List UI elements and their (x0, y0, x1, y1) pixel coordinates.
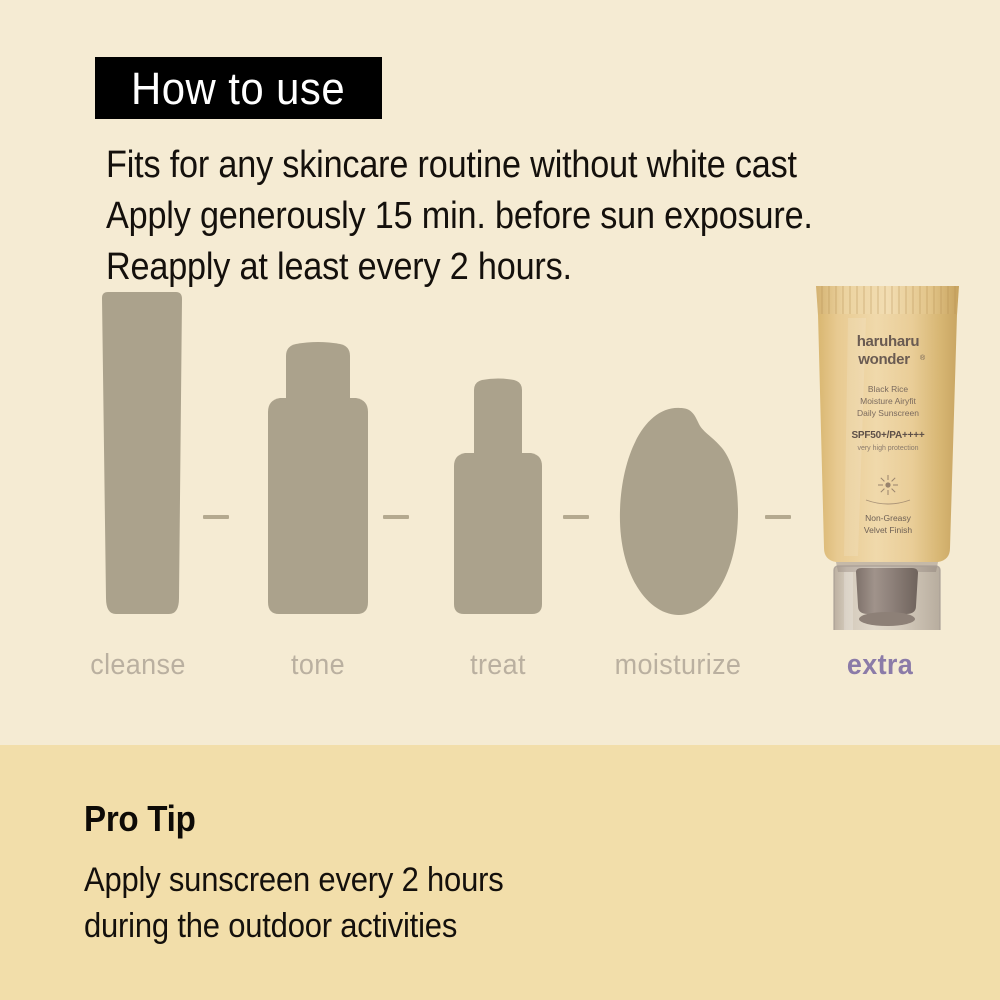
routine-steps-strip: cleanse tone (0, 280, 1000, 700)
intro-line-2: Apply generously 15 min. before sun expo… (106, 191, 844, 242)
pro-tip-heading: Pro Tip (84, 798, 196, 840)
svg-text:wonder: wonder (857, 351, 910, 368)
routine-step-tone: tone (238, 280, 398, 700)
pro-tip-line-1: Apply sunscreen every 2 hours (84, 857, 721, 903)
infographic-page: How to use Fits for any skincare routine… (0, 0, 1000, 1000)
pro-tip-panel: Pro Tip Apply sunscreen every 2 hours du… (0, 745, 1000, 1000)
step-separator-2 (383, 515, 409, 519)
svg-text:very high protection: very high protection (857, 445, 918, 452)
page-title: How to use (131, 66, 345, 111)
sunscreen-tube-photo: haruharu wonder ® Black Rice Moisture Ai… (800, 280, 975, 630)
cream-jar-silhouette-icon (598, 280, 758, 630)
pro-tip-body: Apply sunscreen every 2 hours during the… (84, 857, 784, 949)
step-separator-4 (765, 515, 791, 519)
svg-text:Non-Greasy: Non-Greasy (865, 513, 912, 523)
step-separator-3 (563, 515, 589, 519)
svg-text:Daily Sunscreen: Daily Sunscreen (857, 408, 919, 418)
routine-step-moisturize: moisturize (598, 280, 758, 700)
step-label-treat: treat (424, 649, 573, 682)
step-separator-1 (203, 515, 229, 519)
section-header-badge: How to use (95, 57, 382, 119)
svg-text:SPF50+/PA++++: SPF50+/PA++++ (851, 430, 924, 441)
serum-bottle-silhouette-icon (418, 280, 578, 630)
routine-step-extra: haruharu wonder ® Black Rice Moisture Ai… (800, 280, 975, 700)
routine-step-treat: treat (418, 280, 578, 700)
step-label-moisturize: moisturize (604, 649, 753, 682)
svg-text:®: ® (920, 354, 926, 362)
intro-text-block: Fits for any skincare routine without wh… (106, 140, 926, 293)
tube-silhouette-icon (58, 280, 218, 630)
step-label-tone: tone (244, 649, 393, 682)
routine-step-cleanse: cleanse (58, 280, 218, 700)
pro-tip-line-2: during the outdoor activities (84, 903, 721, 949)
how-to-use-panel: How to use Fits for any skincare routine… (0, 0, 1000, 745)
svg-text:Velvet Finish: Velvet Finish (864, 525, 912, 535)
svg-text:Black Rice: Black Rice (868, 384, 908, 394)
intro-line-1: Fits for any skincare routine without wh… (106, 140, 844, 191)
step-label-extra: extra (806, 649, 955, 682)
toner-bottle-silhouette-icon (238, 280, 398, 630)
svg-text:haruharu: haruharu (857, 333, 920, 350)
svg-text:Moisture Airyfit: Moisture Airyfit (860, 396, 916, 406)
step-label-cleanse: cleanse (64, 649, 213, 682)
